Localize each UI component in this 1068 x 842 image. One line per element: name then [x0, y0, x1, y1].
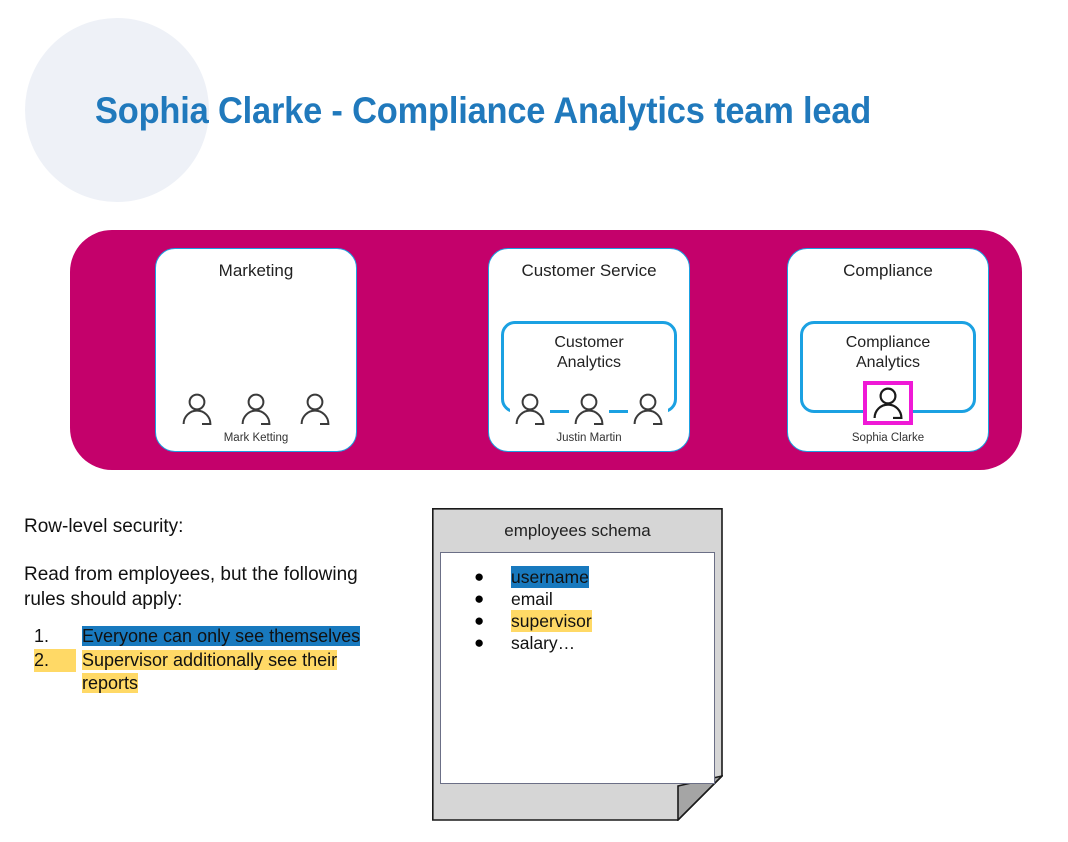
person-icon: [239, 393, 273, 425]
department-card-compliance[interactable]: Compliance Compliance Analytics Sophia C…: [787, 248, 989, 452]
bullet-icon: ●: [474, 588, 484, 610]
person-icon: [572, 393, 606, 425]
rules-list: 1. Everyone can only see themselves 2. S…: [24, 625, 394, 696]
rule-item: 2. Supervisor additionally see their rep…: [24, 649, 394, 696]
schema-field-name: email: [511, 588, 553, 610]
person-slot[interactable]: [236, 393, 276, 425]
person-slot[interactable]: [628, 393, 668, 425]
schema-field: ● supervisor: [441, 610, 714, 632]
rule-marker: 2.: [34, 649, 76, 673]
rule-text: Everyone can only see themselves: [82, 626, 360, 646]
schema-field-name: supervisor: [511, 610, 592, 632]
analytics-subteam-label: Compliance Analytics: [803, 333, 973, 373]
person-icon: [513, 393, 547, 425]
slide-canvas: Sophia Clarke - Compliance Analytics tea…: [0, 0, 1068, 842]
rule-text: Supervisor additionally see their report…: [82, 650, 337, 694]
person-icon: [631, 393, 665, 425]
schema-title: employees schema: [432, 521, 723, 541]
department-card-marketing[interactable]: Marketing: [155, 248, 357, 452]
person-slot-highlighted[interactable]: [863, 381, 913, 425]
schema-field-name: username: [511, 566, 589, 588]
department-footer-name: Mark Ketting: [156, 432, 356, 444]
person-row: [156, 393, 356, 425]
schema-field: ● username: [441, 566, 714, 588]
schema-field-list: ● username ● email ● supervisor ● salary…: [440, 552, 715, 784]
bullet-icon: ●: [474, 610, 484, 632]
person-slot[interactable]: [510, 393, 550, 425]
person-slot[interactable]: [569, 393, 609, 425]
person-icon: [871, 387, 905, 419]
rule-item: 1. Everyone can only see themselves: [24, 625, 394, 649]
department-title: Compliance: [788, 261, 988, 281]
person-icon: [180, 393, 214, 425]
schema-field: ● salary…: [441, 632, 714, 654]
employees-schema-document: employees schema ● username ● email ● su…: [432, 508, 723, 821]
department-title: Customer Service: [489, 261, 689, 281]
page-title: Sophia Clarke - Compliance Analytics tea…: [95, 90, 871, 132]
bullet-icon: ●: [474, 632, 484, 654]
person-row: [788, 381, 988, 425]
department-card-customer-service[interactable]: Customer Service Customer Analytics: [488, 248, 690, 452]
rls-intro-text: Read from employees, but the following r…: [24, 562, 374, 612]
schema-field: ● email: [441, 588, 714, 610]
person-icon: [298, 393, 332, 425]
person-slot[interactable]: [295, 393, 335, 425]
department-title: Marketing: [156, 261, 356, 281]
bullet-icon: ●: [474, 566, 484, 588]
department-footer-name: Sophia Clarke: [788, 432, 988, 444]
analytics-subteam-label: Customer Analytics: [504, 333, 674, 373]
person-slot[interactable]: [177, 393, 217, 425]
person-row: [489, 393, 689, 425]
schema-field-name: salary…: [511, 632, 575, 654]
rule-marker: 1.: [34, 625, 76, 649]
rls-heading: Row-level security:: [24, 516, 183, 538]
department-footer-name: Justin Martin: [489, 432, 689, 444]
